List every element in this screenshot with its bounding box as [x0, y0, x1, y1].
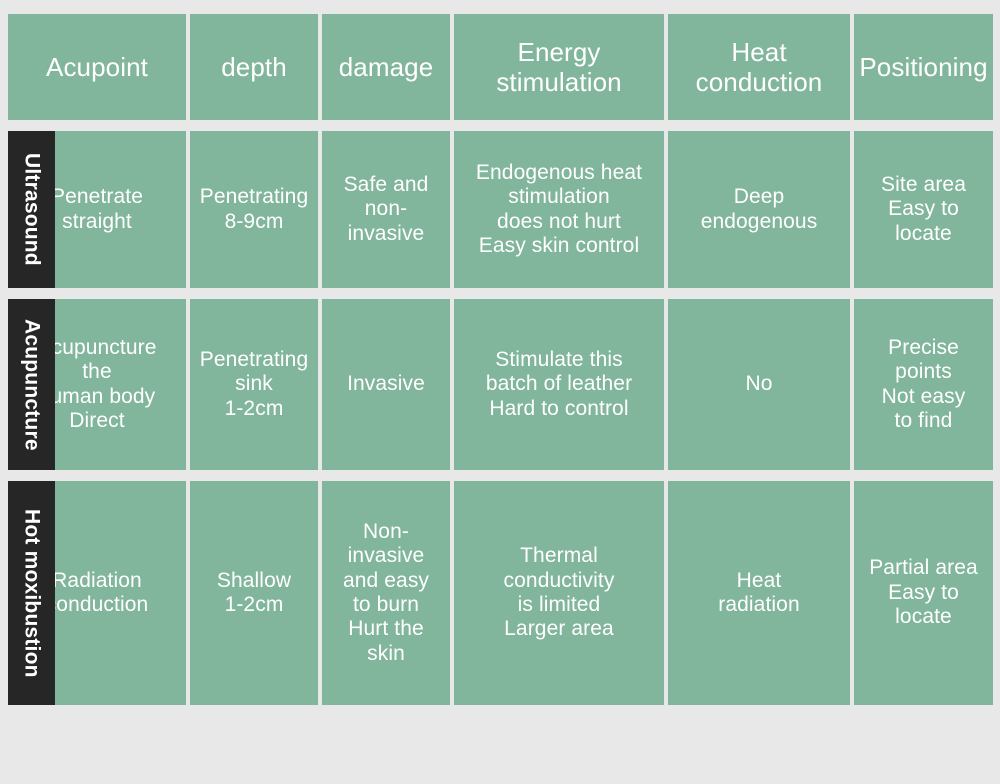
cell-hot-moxibustion-heat-text: Heatradiation — [718, 569, 799, 618]
cell-line: Penetrating — [200, 185, 309, 209]
cell-line: Site area — [881, 173, 966, 197]
cell-line: to burn — [343, 593, 429, 617]
cell-line: stimulation — [496, 67, 621, 97]
row-label-ultrasound-text: Ultrasound — [20, 153, 44, 266]
table-row-acupuncture: Acupuncture Acupuncturethehuman bodyDire… — [8, 299, 990, 470]
cell-line: locate — [869, 605, 978, 629]
cell-line: locate — [881, 222, 966, 246]
cell-acupuncture-energy: Stimulate thisbatch of leatherHard to co… — [454, 299, 664, 470]
table-row-ultrasound: Ultrasound Penetratestraight Penetrating… — [8, 131, 990, 288]
cell-line: Direct — [37, 409, 156, 433]
cell-line: 8-9cm — [200, 210, 309, 234]
column-header-acupoint-text: Acupoint — [46, 52, 148, 82]
cell-line: Larger area — [504, 617, 615, 641]
cell-line: stimulation — [476, 185, 642, 209]
cell-line: skin — [343, 642, 429, 666]
cell-acupuncture-energy-text: Stimulate thisbatch of leatherHard to co… — [486, 348, 632, 421]
cell-ultrasound-positioning: Site areaEasy tolocate — [854, 131, 993, 288]
cell-line: 1-2cm — [217, 593, 291, 617]
cell-hot-moxibustion-energy: Thermalconductivityis limitedLarger area — [454, 481, 664, 705]
cell-line: Acupuncture — [37, 336, 156, 360]
cell-line: Thermal — [504, 544, 615, 568]
cell-line: Endogenous heat — [476, 161, 642, 185]
row-label-hot-moxibustion: Hot moxibustion — [8, 481, 55, 705]
cell-line: Acupoint — [46, 52, 148, 82]
cell-line: invasive — [343, 544, 429, 568]
row-gap — [8, 120, 990, 131]
cell-line: No — [745, 372, 772, 396]
cell-acupuncture-damage-text: Invasive — [347, 372, 425, 396]
cell-line: Heat — [718, 569, 799, 593]
cell-line: Hard to control — [486, 397, 632, 421]
cell-line: radiation — [718, 593, 799, 617]
cell-line: Radiation — [46, 569, 149, 593]
cell-hot-moxibustion-damage: Non-invasiveand easyto burnHurt theskin — [322, 481, 450, 705]
cell-line: to find — [882, 409, 966, 433]
column-header-acupoint: Acupoint — [8, 14, 186, 120]
row-label-hot-moxibustion-text: Hot moxibustion — [20, 509, 44, 678]
column-header-heat-conduction-text: Heatconduction — [696, 37, 823, 97]
table-row-hot-moxibustion: Hot moxibustion Radiationconduction Shal… — [8, 481, 990, 705]
cell-hot-moxibustion-depth-text: Shallow1-2cm — [217, 569, 291, 618]
cell-line: Heat — [696, 37, 823, 67]
cell-acupuncture-depth-text: Penetratingsink1-2cm — [200, 348, 309, 421]
cell-line: Deep — [701, 185, 818, 209]
cell-ultrasound-energy: Endogenous heatstimulationdoes not hurtE… — [454, 131, 664, 288]
column-header-damage-text: damage — [339, 52, 434, 82]
row-gap — [8, 288, 990, 299]
cell-ultrasound-depth-text: Penetrating8-9cm — [200, 185, 309, 234]
cell-line: does not hurt — [476, 210, 642, 234]
cell-line: Penetrate — [51, 185, 143, 209]
cell-line: and easy — [343, 569, 429, 593]
cell-line: non- — [344, 197, 429, 221]
column-header-depth: depth — [190, 14, 318, 120]
cell-line: Safe and — [344, 173, 429, 197]
cell-line: Easy skin control — [476, 234, 642, 258]
row-label-ultrasound: Ultrasound — [8, 131, 55, 288]
cell-line: invasive — [344, 222, 429, 246]
cell-ultrasound-positioning-text: Site areaEasy tolocate — [881, 173, 966, 246]
comparison-table: Acupoint depth damage Energystimulation … — [8, 14, 990, 705]
cell-hot-moxibustion-acupoint-text: Radiationconduction — [46, 569, 149, 618]
cell-line: Penetrating — [200, 348, 309, 372]
cell-line: Energy — [496, 37, 621, 67]
cell-hot-moxibustion-heat: Heatradiation — [668, 481, 850, 705]
cell-line: Partial area — [869, 556, 978, 580]
cell-line: the — [37, 360, 156, 384]
row-label-acupuncture-text: Acupuncture — [20, 319, 44, 451]
cell-line: Hurt the — [343, 617, 429, 641]
cell-acupuncture-damage: Invasive — [322, 299, 450, 470]
row-label-acupuncture: Acupuncture — [8, 299, 55, 470]
cell-line: endogenous — [701, 210, 818, 234]
cell-ultrasound-depth: Penetrating8-9cm — [190, 131, 318, 288]
column-header-positioning: Positioning — [854, 14, 993, 120]
cell-line: Stimulate this — [486, 348, 632, 372]
cell-line: damage — [339, 52, 434, 82]
cell-line: Shallow — [217, 569, 291, 593]
cell-acupuncture-heat-text: No — [745, 372, 772, 396]
cell-acupuncture-heat: No — [668, 299, 850, 470]
cell-hot-moxibustion-damage-text: Non-invasiveand easyto burnHurt theskin — [343, 520, 429, 666]
cell-line: batch of leather — [486, 372, 632, 396]
cell-line: Not easy — [882, 385, 966, 409]
cell-ultrasound-heat: Deependogenous — [668, 131, 850, 288]
cell-ultrasound-heat-text: Deependogenous — [701, 185, 818, 234]
column-header-energy-stimulation-text: Energystimulation — [496, 37, 621, 97]
cell-acupuncture-positioning-text: PrecisepointsNot easyto find — [882, 336, 966, 433]
cell-line: conduction — [696, 67, 823, 97]
cell-line: sink — [200, 372, 309, 396]
cell-line: is limited — [504, 593, 615, 617]
cell-line: Precise — [882, 336, 966, 360]
cell-line: depth — [221, 52, 287, 82]
cell-line: Easy to — [869, 581, 978, 605]
cell-hot-moxibustion-depth: Shallow1-2cm — [190, 481, 318, 705]
cell-hot-moxibustion-positioning: Partial areaEasy tolocate — [854, 481, 993, 705]
cell-acupuncture-positioning: PrecisepointsNot easyto find — [854, 299, 993, 470]
cell-line: Positioning — [859, 52, 987, 82]
cell-hot-moxibustion-energy-text: Thermalconductivityis limitedLarger area — [504, 544, 615, 641]
cell-ultrasound-damage: Safe andnon-invasive — [322, 131, 450, 288]
cell-line: Invasive — [347, 372, 425, 396]
cell-line: Easy to — [881, 197, 966, 221]
cell-line: straight — [51, 210, 143, 234]
cell-line: 1-2cm — [200, 397, 309, 421]
cell-line: conduction — [46, 593, 149, 617]
cell-ultrasound-energy-text: Endogenous heatstimulationdoes not hurtE… — [476, 161, 642, 258]
cell-line: human body — [37, 385, 156, 409]
cell-ultrasound-acupoint-text: Penetratestraight — [51, 185, 143, 234]
cell-ultrasound-damage-text: Safe andnon-invasive — [344, 173, 429, 246]
column-header-positioning-text: Positioning — [859, 52, 987, 82]
cell-line: points — [882, 360, 966, 384]
cell-acupuncture-acupoint-text: Acupuncturethehuman bodyDirect — [37, 336, 156, 433]
column-header-energy-stimulation: Energystimulation — [454, 14, 664, 120]
column-header-damage: damage — [322, 14, 450, 120]
cell-hot-moxibustion-positioning-text: Partial areaEasy tolocate — [869, 556, 978, 629]
table-header-row: Acupoint depth damage Energystimulation … — [8, 14, 990, 120]
cell-line: Non- — [343, 520, 429, 544]
cell-line: conductivity — [504, 569, 615, 593]
row-gap — [8, 470, 990, 481]
cell-acupuncture-depth: Penetratingsink1-2cm — [190, 299, 318, 470]
column-header-heat-conduction: Heatconduction — [668, 14, 850, 120]
column-header-depth-text: depth — [221, 52, 287, 82]
